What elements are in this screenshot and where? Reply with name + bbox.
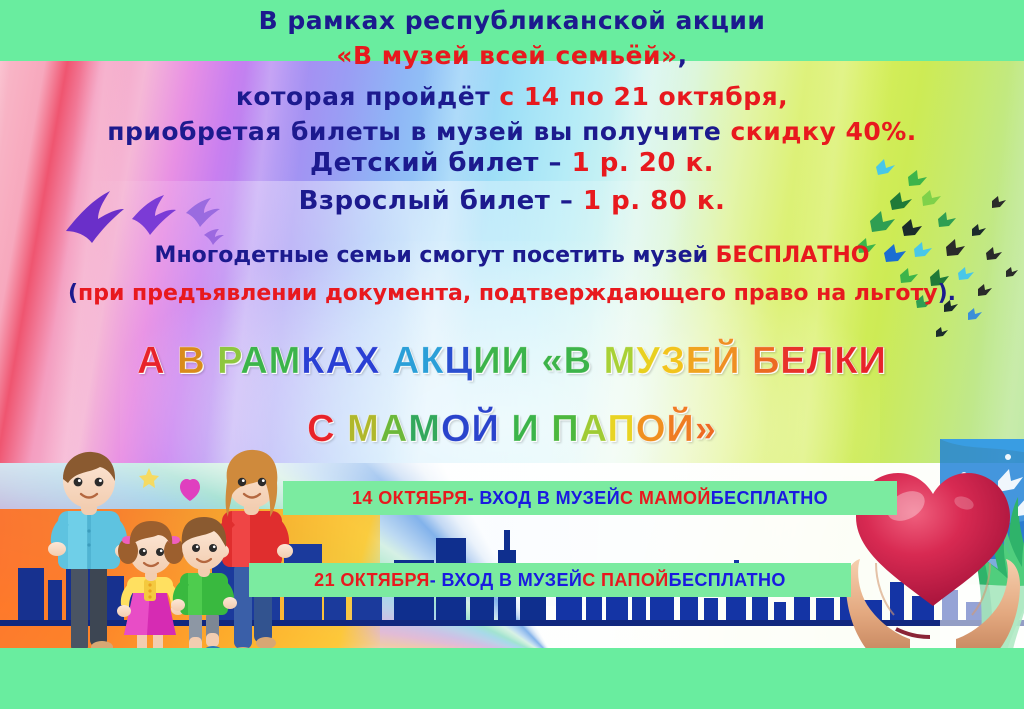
headline-letter-7 — [500, 408, 512, 450]
benefit-paren-open: ( — [68, 281, 78, 306]
headline-line-2: С МАМОЙ И ПАПОЙ» — [0, 408, 1024, 451]
child-ticket-price: 1 р. 20 к. — [572, 148, 714, 178]
campaign-title: «В музей всей семьёй» — [336, 41, 677, 70]
headline-letter-6: Й — [472, 408, 500, 450]
headline-letter-2: В — [177, 340, 205, 382]
banner-14-october[interactable]: 14 ОКТЯБРЯ - ВХОД В МУЗЕЙ С МАМОЙ БЕСПЛА… — [283, 481, 897, 515]
banner2-with: С ПАПОЙ — [582, 570, 668, 591]
banner2-mid: - ВХОД В МУЗЕЙ — [430, 570, 582, 591]
discount-value: скидку 40%. — [730, 117, 916, 146]
headline-letter-5: А — [240, 340, 268, 382]
headline-letter-26: Б — [752, 340, 780, 382]
headline-letter-0: С — [307, 408, 335, 450]
headline-letter-8: И — [511, 408, 539, 450]
headline-letter-27: Е — [780, 340, 806, 382]
headline-letter-6: М — [269, 340, 302, 382]
headline-letter-22: З — [661, 340, 686, 382]
adult-ticket-line: Взрослый билет – 1 р. 80 к. — [0, 186, 1024, 216]
headline-letter-14: Й — [666, 408, 694, 450]
headline-letter-11: А — [392, 340, 420, 382]
banner2-date: 21 ОКТЯБРЯ — [314, 570, 430, 591]
intro-line-4: приобретая билеты в музей вы получите ск… — [0, 117, 1024, 146]
headline-letter-13: О — [636, 408, 667, 450]
headline-letter-30: И — [859, 340, 887, 382]
headline-letter-12: П — [608, 408, 636, 450]
benefit-line-2: (при предъявлении документа, подтверждаю… — [0, 281, 1024, 306]
intro-line-3-a: которая пройдёт — [236, 82, 500, 111]
banner-21-october[interactable]: 21 ОКТЯБРЯ - ВХОД В МУЗЕЙ С ПАПОЙ БЕСПЛА… — [249, 563, 851, 597]
headline-letter-3: А — [380, 408, 408, 450]
benefit-paren-close: ). — [938, 281, 956, 306]
headline-letter-7: К — [301, 340, 325, 382]
intro-line-2: «В музей всей семьёй», — [0, 41, 1024, 70]
intro-line-1: В рамках республиканской акции — [0, 6, 1024, 35]
headline-line-1: А В РАМКАХ АКЦИИ «В МУЗЕЙ БЕЛКИ — [0, 340, 1024, 383]
benefit-free-label: БЕСПЛАТНО — [716, 243, 870, 268]
headline-letter-15: » — [695, 408, 717, 450]
girl-figure — [117, 521, 185, 648]
headline-letter-21: У — [636, 340, 661, 382]
banner1-date: 14 ОКТЯБРЯ — [352, 488, 468, 509]
adult-ticket-price: 1 р. 80 к. — [583, 186, 725, 216]
adult-ticket-label: Взрослый билет – — [299, 186, 583, 216]
campaign-dates: с 14 по 21 октября, — [499, 82, 788, 111]
intro-line-4-a: приобретая билеты в музей вы получите — [107, 117, 730, 146]
cartoon-family-illustration — [38, 439, 308, 648]
headline-letter-11: А — [580, 408, 608, 450]
bottom-green-band — [0, 648, 1024, 709]
headline-letter-4: Р — [217, 340, 240, 382]
banner1-with: С МАМОЙ — [620, 488, 711, 509]
headline-letter-8: А — [326, 340, 354, 382]
intro-line-3: которая пройдёт с 14 по 21 октября, — [0, 82, 1024, 111]
banner1-mid: - ВХОД В МУЗЕЙ — [468, 488, 620, 509]
headline-letter-15: И — [502, 340, 530, 382]
headline-letter-9 — [540, 408, 552, 450]
headline-letter-10 — [380, 340, 392, 382]
headline-letter-2: М — [347, 408, 380, 450]
headline-letter-14: И — [473, 340, 501, 382]
headline-letter-18: В — [564, 340, 592, 382]
banner2-free: БЕСПЛАТНО — [669, 570, 786, 591]
child-ticket-line: Детский билет – 1 р. 20 к. — [0, 148, 1024, 178]
headline-letter-5: О — [441, 408, 472, 450]
headline-letter-10: П — [551, 408, 579, 450]
headline-letter-17: « — [541, 340, 563, 382]
headline-letter-13: Ц — [445, 340, 474, 382]
headline-letter-12: К — [420, 340, 444, 382]
headline-letter-29: К — [834, 340, 858, 382]
headline-letter-3 — [206, 340, 218, 382]
banner1-free: БЕСПЛАТНО — [711, 488, 828, 509]
headline-letter-9: Х — [354, 340, 380, 382]
headline-letter-23: Е — [686, 340, 712, 382]
headline-letter-19 — [592, 340, 604, 382]
intro-line-2-tail: , — [678, 41, 688, 70]
headline-letter-24: Й — [712, 340, 740, 382]
benefit-line-2-mid: при предъявлении документа, подтверждающ… — [78, 281, 938, 306]
headline-letter-1 — [336, 408, 348, 450]
headline-letter-0: А — [137, 340, 165, 382]
benefit-line-1: Многодетные семьи смогут посетить музей … — [0, 243, 1024, 268]
child-ticket-label: Детский билет – — [310, 148, 572, 178]
headline-letter-25 — [740, 340, 752, 382]
headline-letter-4: М — [408, 408, 441, 450]
headline-letter-16 — [530, 340, 542, 382]
benefit-line-1-a: Многодетные семьи смогут посетить музей — [155, 243, 716, 268]
headline-letter-1 — [166, 340, 178, 382]
headline-letter-20: М — [604, 340, 637, 382]
headline-letter-28: Л — [807, 340, 835, 382]
poster: В рамках республиканской акции «В музей … — [0, 0, 1024, 709]
